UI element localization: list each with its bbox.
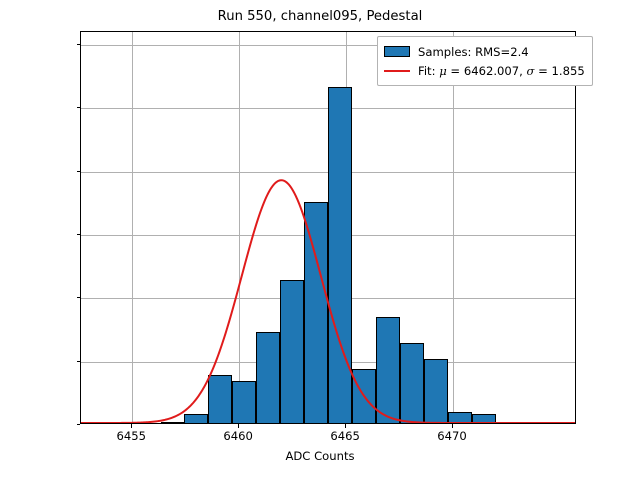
x-tick-label: 6465 [330,429,360,443]
x-tick-label: 6460 [223,429,253,443]
figure-canvas: Run 550, channel095, Pedestal Entries AD… [0,0,640,480]
plot-area [80,31,576,424]
y-tick-mark [77,424,81,425]
legend-swatch-samples [384,46,410,57]
x-tick-label: 6470 [437,429,467,443]
y-axis-label: Entries [0,188,2,228]
gaussian-fit-curve [81,32,575,423]
legend-swatch-fit [384,70,410,72]
chart-legend: Samples: RMS=2.4 Fit: μ = 6462.007, σ = … [377,36,593,86]
x-tick-mark [345,424,346,428]
legend-entry-fit: Fit: μ = 6462.007, σ = 1.855 [384,61,585,80]
x-tick-mark [131,424,132,428]
x-tick-mark [452,424,453,428]
legend-label-samples: Samples: RMS=2.4 [418,45,529,59]
chart-title: Run 550, channel095, Pedestal [0,9,640,24]
legend-label-fit: Fit: μ = 6462.007, σ = 1.855 [418,64,585,78]
x-axis-label: ADC Counts [0,449,640,463]
legend-entry-samples: Samples: RMS=2.4 [384,42,585,61]
x-tick-label: 6455 [117,429,147,443]
x-tick-mark [238,424,239,428]
